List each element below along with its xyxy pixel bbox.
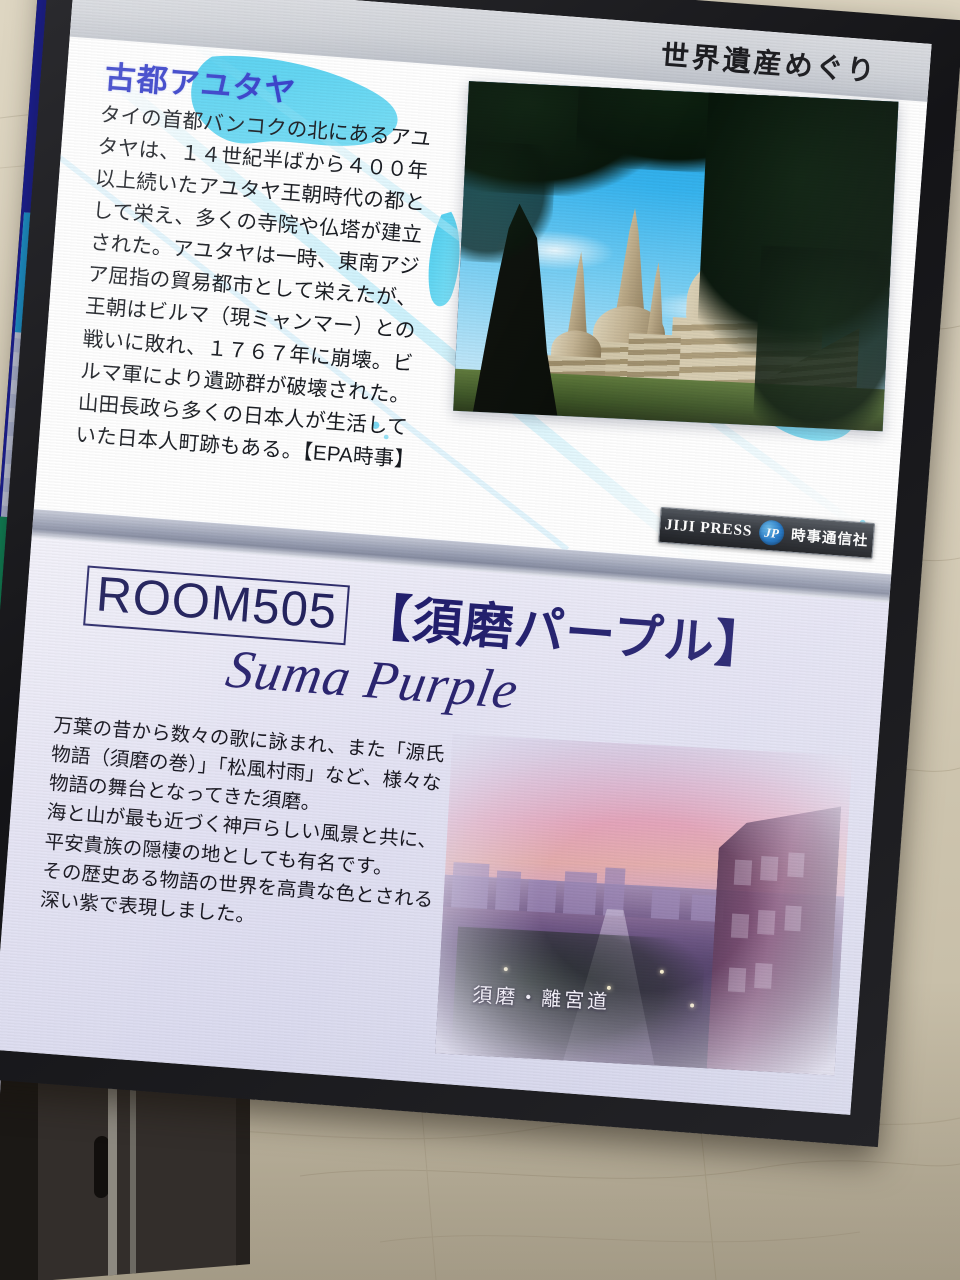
photo-foliage — [453, 140, 556, 265]
room-number-badge: ROOM505 — [83, 565, 350, 645]
door-handle[interactable] — [94, 1135, 109, 1198]
article-body-text: タイの首都バンコクの北にあるアユタヤは、１４世紀半ばから４００年以上続いたアユタ… — [74, 99, 445, 477]
ayutthaya-temple-photo — [453, 81, 898, 431]
suma-rikyu-road-photo: 須磨・離宮道 — [435, 733, 852, 1074]
stupa-spire — [644, 261, 670, 338]
photo-foliage — [752, 245, 898, 431]
jiji-press-english-label: JIJI PRESS — [664, 516, 753, 541]
room-description-text: 万葉の昔から数々の歌に詠まれ、また「源氏物語（須磨の巻）」「松風村雨」など、様々… — [39, 711, 453, 945]
display-bezel: 世界遺産めぐり 古都アユタヤ タイの首都バンコクの北にあるアユタヤは、１４世紀半… — [0, 0, 960, 1147]
room-505-section: ROOM505 【須磨パープル】 Suma Purple 万葉の昔から数々の歌に… — [0, 537, 889, 1115]
photo-vignette — [435, 733, 852, 1074]
world-heritage-section: 世界遺産めぐり 古都アユタヤ タイの首都バンコクの北にあるアユタヤは、１４世紀半… — [34, 0, 932, 574]
jiji-press-japanese-label: 時事通信社 — [790, 524, 869, 551]
jiji-press-logo-icon: JP — [758, 520, 785, 547]
stupa-spire — [564, 251, 594, 338]
display-screen[interactable]: 世界遺産めぐり 古都アユタヤ タイの首都バンコクの北にあるアユタヤは、１４世紀半… — [0, 0, 932, 1115]
digital-signage-display[interactable]: 世界遺産めぐり 古都アユタヤ タイの首都バンコクの北にあるアユタヤは、１４世紀半… — [0, 0, 960, 1147]
door-panel-shadow — [0, 1051, 38, 1280]
